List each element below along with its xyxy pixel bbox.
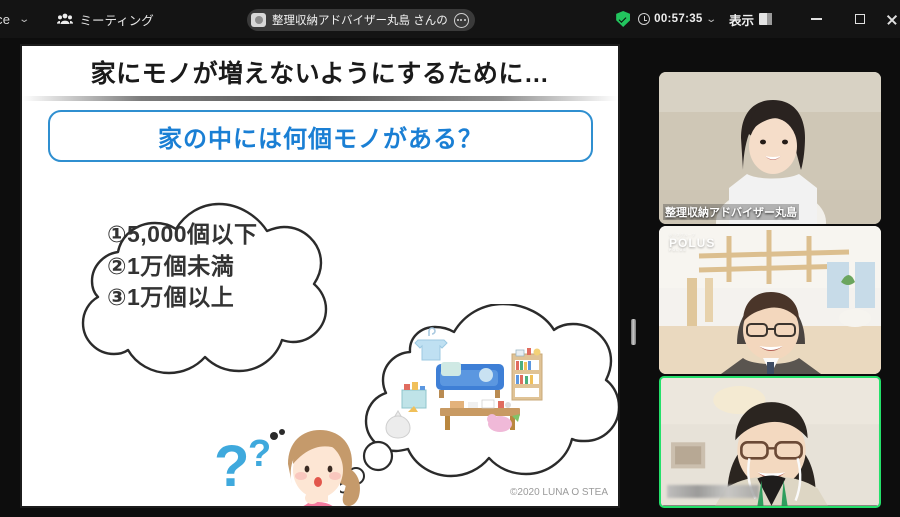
polus-watermark: ポラスグループPOLUSPOLUS <box>669 234 715 253</box>
view-label: 表示 <box>729 10 754 29</box>
meeting-menu[interactable]: ミーティング <box>57 10 154 29</box>
video-tile[interactable]: 整理収納アドバイザー丸島 <box>659 72 881 224</box>
restore-button[interactable] <box>838 0 882 38</box>
share-label: 整理収納アドバイザー丸島 さんの <box>272 12 448 28</box>
blurred-overlay <box>667 485 759 498</box>
clock-icon <box>638 13 650 25</box>
close-button[interactable] <box>882 0 900 38</box>
video-tile-active-speaker[interactable] <box>659 376 881 508</box>
meeting-timer[interactable]: 00:57:35 ⌄ <box>638 13 715 25</box>
question-box: 家の中には何個モノがある？ <box>48 110 593 162</box>
screen-share-banner[interactable]: 整理収納アドバイザー丸島 さんの <box>247 9 475 31</box>
svg-text:?: ? <box>214 434 249 499</box>
participant-video <box>659 72 881 224</box>
title-divider <box>22 96 618 101</box>
list-item: ③1万個以上 <box>107 282 258 314</box>
option-list: ①5,000個以下 ②1万個未満 ③1万個以上 <box>107 219 258 314</box>
thought-bubble-icon <box>340 304 620 494</box>
meeting-label: ミーティング <box>80 10 154 29</box>
toolbar-left-group: ce ⌄ ミーティング <box>0 10 154 29</box>
restore-icon <box>855 14 865 24</box>
meeting-window: ce ⌄ ミーティング 整理収納アドバイザー丸島 さんの <box>0 0 900 517</box>
chevron-down-icon[interactable]: ⌄ <box>18 14 30 25</box>
question-text: 家の中には何個モノがある？ <box>158 119 483 154</box>
slide-title: 家にモノが増えないようにするために… <box>22 54 618 90</box>
bookshelf-illustration <box>512 348 542 400</box>
video-tile[interactable]: ポラスグループPOLUSPOLUS <box>659 226 881 374</box>
participant-name: 整理収納アドバイザー丸島 <box>663 204 799 220</box>
list-item: ①5,000個以下 <box>107 219 258 251</box>
people-icon <box>57 13 73 25</box>
list-item: ②1万個未満 <box>107 251 258 283</box>
drag-handle-icon[interactable] <box>631 319 636 345</box>
timer-text: 00:57:35 <box>654 13 702 25</box>
thinking-woman-illustration <box>260 424 380 508</box>
view-button[interactable]: 表示 <box>729 10 772 29</box>
top-toolbar: ce ⌄ ミーティング 整理収納アドバイザー丸島 さんの <box>0 0 900 38</box>
shared-screen-stage: 家にモノが増えないようにするために… 家の中には何個モノがある？ ①5,000個… <box>0 38 632 517</box>
minimize-icon <box>811 18 822 20</box>
shield-check-icon[interactable] <box>616 11 630 27</box>
screen-share-icon <box>251 13 266 27</box>
presentation-slide: 家にモノが増えないようにするために… 家の中には何個モノがある？ ①5,000個… <box>20 44 620 508</box>
video-rail: 整理収納アドバイザー丸島 <box>640 38 900 517</box>
toolbar-right-group: 00:57:35 ⌄ 表示 <box>616 0 900 38</box>
more-options-icon[interactable] <box>454 13 469 28</box>
layout-icon <box>759 13 772 25</box>
close-icon <box>886 14 897 25</box>
minimize-button[interactable] <box>794 0 838 38</box>
chevron-down-icon[interactable]: ⌄ <box>705 14 717 25</box>
toys-illustration <box>402 382 426 412</box>
app-name-label: ce <box>0 12 10 27</box>
